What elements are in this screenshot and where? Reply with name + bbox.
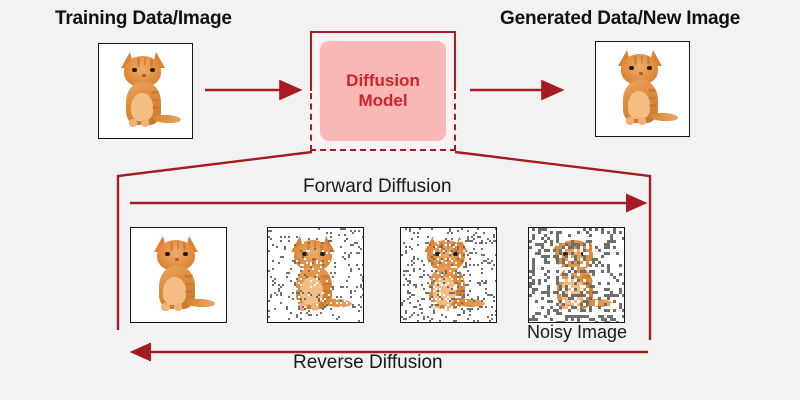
step-thumbnail-2 (400, 227, 497, 323)
cat-illustration-step-0 (131, 228, 226, 322)
noisy-image-label: Noisy Image (527, 322, 627, 343)
cat-illustration-generated (596, 42, 689, 136)
diagram-canvas: Training Data/Image Generated Data/New I… (0, 0, 800, 400)
step-thumbnail-1 (267, 227, 364, 323)
diffusion-model-label: Diffusion Model (346, 71, 420, 111)
training-data-header: Training Data/Image (55, 8, 232, 30)
cat-illustration-step-3 (529, 228, 624, 322)
cat-illustration-step-1 (268, 228, 363, 322)
generated-data-header: Generated Data/New Image (500, 8, 740, 30)
training-image (98, 43, 193, 139)
step-thumbnail-3 (528, 227, 625, 323)
diffusion-model-box[interactable]: Diffusion Model (320, 41, 446, 141)
step-thumbnail-0 (130, 227, 227, 323)
cat-illustration-step-2 (401, 228, 496, 322)
generated-image (595, 41, 690, 137)
forward-diffusion-label: Forward Diffusion (303, 176, 452, 198)
reverse-diffusion-label: Reverse Diffusion (293, 352, 443, 374)
cat-illustration-training (99, 44, 192, 138)
